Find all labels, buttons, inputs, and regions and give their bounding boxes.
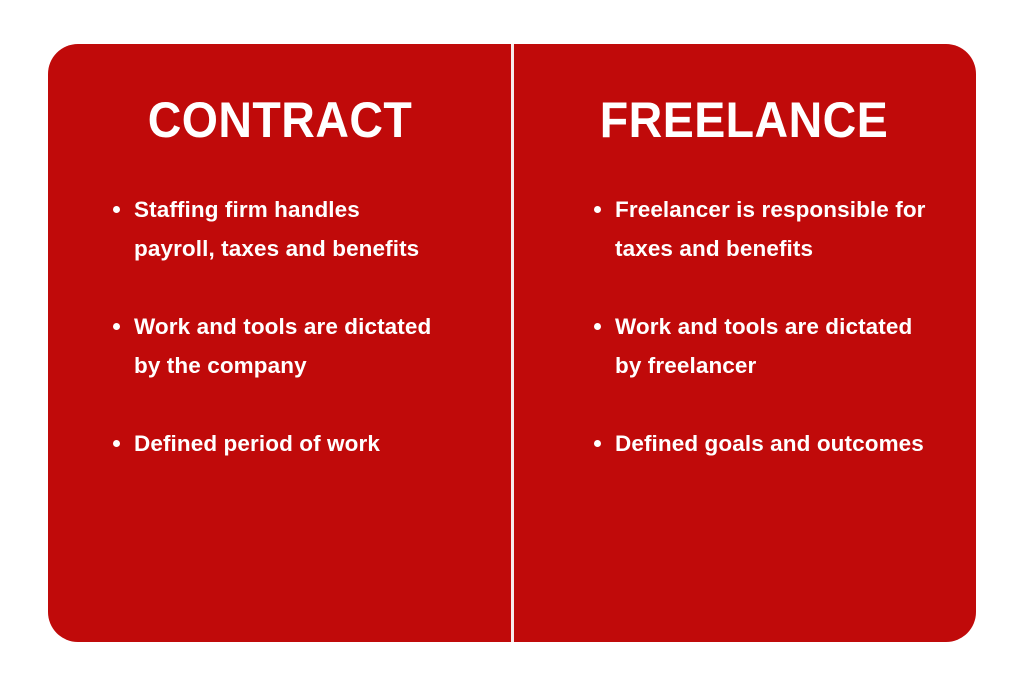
column-divider (511, 44, 514, 642)
bullet-list-freelance: Freelancer is responsible for taxes and … (512, 190, 976, 463)
list-item: Work and tools are dictated by freelance… (594, 307, 935, 385)
list-item: Defined goals and outcomes (594, 424, 935, 463)
bullet-dot-icon (594, 206, 601, 213)
column-freelance: FREELANCE Freelancer is responsible for … (512, 44, 976, 642)
bullet-text: Staffing firm handles payroll, taxes and… (134, 190, 434, 268)
list-item: Freelancer is responsible for taxes and … (594, 190, 935, 268)
bullet-dot-icon (113, 440, 120, 447)
column-title-freelance: FREELANCE (528, 44, 960, 148)
list-item: Staffing firm handles payroll, taxes and… (113, 190, 434, 268)
bullet-dot-icon (113, 323, 120, 330)
comparison-graphic: CONTRACT Staffing firm handles payroll, … (0, 0, 1024, 685)
bullet-dot-icon (113, 206, 120, 213)
column-title-contract: CONTRACT (64, 44, 496, 148)
bullet-list-contract: Staffing firm handles payroll, taxes and… (48, 190, 512, 463)
comparison-card: CONTRACT Staffing firm handles payroll, … (48, 44, 976, 642)
list-item: Defined period of work (113, 424, 434, 463)
bullet-text: Defined period of work (134, 424, 434, 463)
bullet-text: Work and tools are dictated by the compa… (134, 307, 434, 385)
bullet-dot-icon (594, 323, 601, 330)
bullet-text: Defined goals and outcomes (615, 424, 935, 463)
column-contract: CONTRACT Staffing firm handles payroll, … (48, 44, 512, 642)
bullet-text: Work and tools are dictated by freelance… (615, 307, 935, 385)
bullet-text: Freelancer is responsible for taxes and … (615, 190, 935, 268)
list-item: Work and tools are dictated by the compa… (113, 307, 434, 385)
bullet-dot-icon (594, 440, 601, 447)
